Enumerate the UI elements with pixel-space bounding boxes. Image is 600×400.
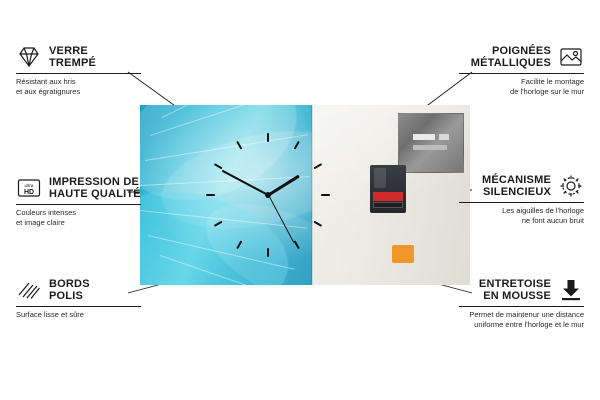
callout-desc: Facilite le montage de l'horloge sur le … xyxy=(459,77,584,96)
callout-title: MÉCANISME SILENCIEUX xyxy=(482,174,551,198)
mount-bracket-icon xyxy=(558,44,584,70)
callout-underline xyxy=(459,73,584,74)
callout-mecanisme-silencieux: MÉCANISME SILENCIEUX Les aiguilles de l'… xyxy=(459,173,584,225)
callout-underline xyxy=(459,306,584,307)
polished-edges-icon xyxy=(16,277,42,303)
callout-poignees-metalliques: POIGNÉES MÉTALLIQUES Facilite le montage… xyxy=(459,44,584,96)
svg-text:ultra: ultra xyxy=(25,183,34,188)
clock-face xyxy=(198,125,338,265)
callout-bords-polis: BORDS POLIS Surface lisse et sûre xyxy=(16,277,141,320)
callout-desc: Les aiguilles de l'horloge ne font aucun… xyxy=(459,206,584,225)
metal-swatch xyxy=(398,113,464,173)
callout-verre-trempe: VERRE TREMPÉ Résistant aux hris et aux é… xyxy=(16,44,141,96)
callout-underline xyxy=(16,73,141,74)
foam-spacer xyxy=(392,245,414,263)
infographic-canvas: VERRE TREMPÉ Résistant aux hris et aux é… xyxy=(0,0,600,400)
callout-desc: Résistant aux hris et aux égratignures xyxy=(16,77,141,96)
callout-desc: Permet de maintenur une distance uniform… xyxy=(459,310,584,329)
ultra-hd-icon: ultra HD xyxy=(16,175,42,201)
clock-mechanism xyxy=(370,165,406,213)
gear-icon xyxy=(558,173,584,199)
svg-text:HD: HD xyxy=(24,189,34,196)
callout-title: POIGNÉES MÉTALLIQUES xyxy=(471,45,551,69)
callout-title: ENTRETOISE EN MOUSSE xyxy=(479,278,551,302)
callout-desc: Couleurs intenses et image claire xyxy=(16,208,141,227)
callout-underline xyxy=(16,204,141,205)
callout-title: VERRE TREMPÉ xyxy=(49,45,96,69)
clock-pivot xyxy=(265,192,271,198)
down-arrow-spacer-icon xyxy=(558,277,584,303)
clock-second-hand xyxy=(268,195,294,243)
callout-underline xyxy=(459,202,584,203)
clock-hour-hand xyxy=(267,175,299,197)
diamond-icon xyxy=(16,44,42,70)
callout-title: IMPRESSION DE HAUTE QUALITÉ xyxy=(49,176,141,200)
callout-desc: Surface lisse et sûre xyxy=(16,310,141,320)
callout-entretoise-en-mousse: ENTRETOISE EN MOUSSE Permet de maintenur… xyxy=(459,277,584,329)
clock-minute-hand xyxy=(222,170,269,196)
callout-title: BORDS POLIS xyxy=(49,278,90,302)
callout-underline xyxy=(16,306,141,307)
callout-impression-haute-qualite: ultra HD IMPRESSION DE HAUTE QUALITÉ Cou… xyxy=(16,175,141,227)
product-image xyxy=(140,105,470,285)
